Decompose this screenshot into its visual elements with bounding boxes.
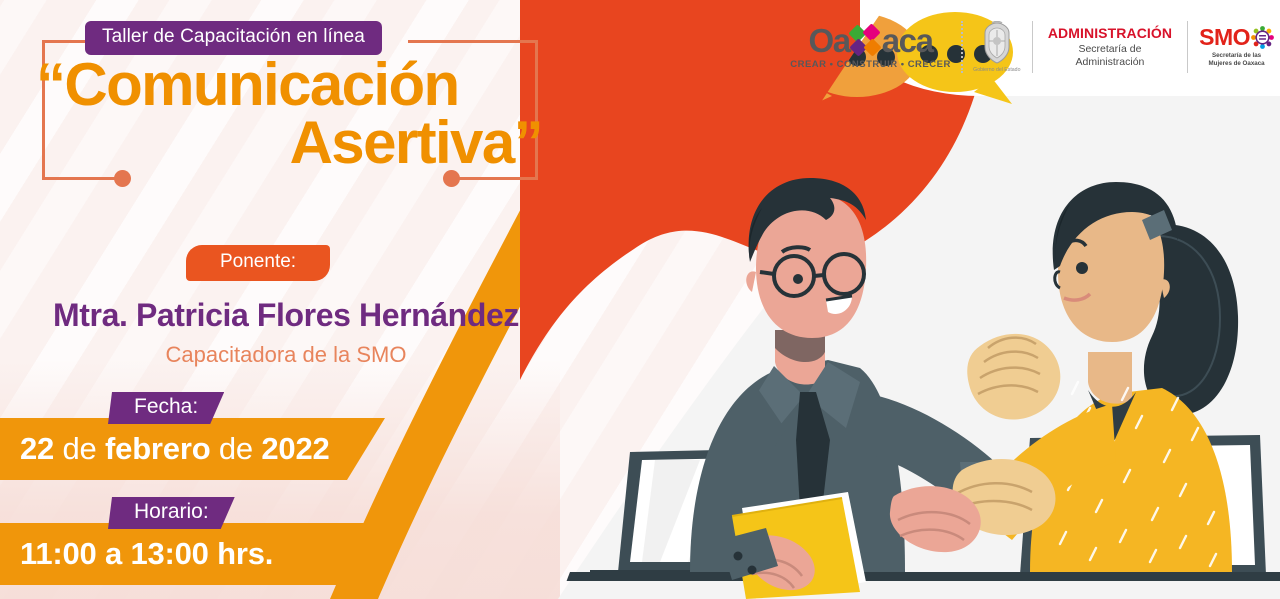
date-day: 22 [20, 431, 54, 466]
logo-bar: Oa aca CREAR • CONSTRUIR • CRECER Gobier… [790, 14, 1274, 80]
date-label: Fecha: [108, 392, 224, 424]
frame-top-right-line [408, 40, 538, 43]
smo-mark-row: SMO [1199, 26, 1274, 49]
smo-wordmark: SMO [1199, 26, 1250, 49]
smo-caption-line-2: Mujeres de Oaxaca [1209, 60, 1265, 68]
date-block: Fecha: 22 de febrero de 2022 [0, 392, 385, 480]
speaker-name: Mtra. Patricia Flores Hernández [0, 297, 572, 334]
date-month: febrero [105, 431, 210, 466]
oaxaca-word-part1: Oa [808, 24, 849, 57]
promotional-banner: Taller de Capacitación en línea “Comunic… [0, 0, 1280, 599]
oaxaca-wordmark: Oa aca [808, 24, 932, 57]
date-connector-2: de [219, 431, 253, 466]
time-value: 11:00 a 13:00 hrs. [0, 536, 273, 572]
frame-dot-left [114, 170, 131, 187]
speaker-badge: Ponente: [186, 245, 330, 281]
oaxaca-logo: Oa aca CREAR • CONSTRUIR • CRECER [790, 24, 951, 70]
logo-divider-2 [1187, 21, 1188, 73]
administracion-title: ADMINISTRACIÓN [1048, 25, 1172, 43]
smo-caption-line-1: Secretaría de las [1209, 52, 1265, 60]
smo-flower-icon [1251, 26, 1274, 49]
page-title: “Comunicación Asertiva” [36, 56, 556, 172]
date-bar: 22 de febrero de 2022 [0, 418, 385, 480]
date-connector-1: de [63, 431, 97, 466]
oaxaca-diamond-x-icon [851, 26, 881, 56]
smo-logo: SMO Secretar [1199, 26, 1274, 68]
title-line-1: “Comunicación [36, 56, 556, 114]
logo-divider-dotted [961, 21, 963, 73]
smo-caption: Secretaría de las Mujeres de Oaxaca [1209, 52, 1265, 68]
workshop-badge: Taller de Capacitación en línea [85, 21, 382, 55]
time-block: Horario: 11:00 a 13:00 hrs. [0, 497, 385, 585]
frame-bottom-right-line [452, 177, 538, 180]
state-seal-logo: Gobierno del Estado [973, 21, 1021, 73]
logo-divider-1 [1032, 21, 1033, 73]
date-year: 2022 [261, 431, 329, 466]
state-seal-caption: Gobierno del Estado [973, 67, 1020, 73]
speaker-role: Capacitadora de la SMO [0, 342, 572, 368]
time-label: Horario: [108, 497, 235, 529]
coat-of-arms-icon [980, 21, 1014, 65]
administracion-logo: ADMINISTRACIÓN Secretaría de Administrac… [1044, 25, 1176, 69]
oaxaca-tagline: CREAR • CONSTRUIR • CRECER [790, 59, 951, 70]
date-value: 22 de febrero de 2022 [0, 431, 330, 467]
frame-bottom-left-line [42, 177, 120, 180]
administracion-line-2: Administración [1048, 56, 1172, 69]
title-line-2: Asertiva” [36, 114, 556, 172]
oaxaca-word-part2: aca [882, 24, 933, 57]
time-bar: 11:00 a 13:00 hrs. [0, 523, 385, 585]
conversation-illustration [560, 0, 1280, 599]
desk-surface [560, 572, 1280, 581]
administracion-line-1: Secretaría de [1048, 43, 1172, 56]
